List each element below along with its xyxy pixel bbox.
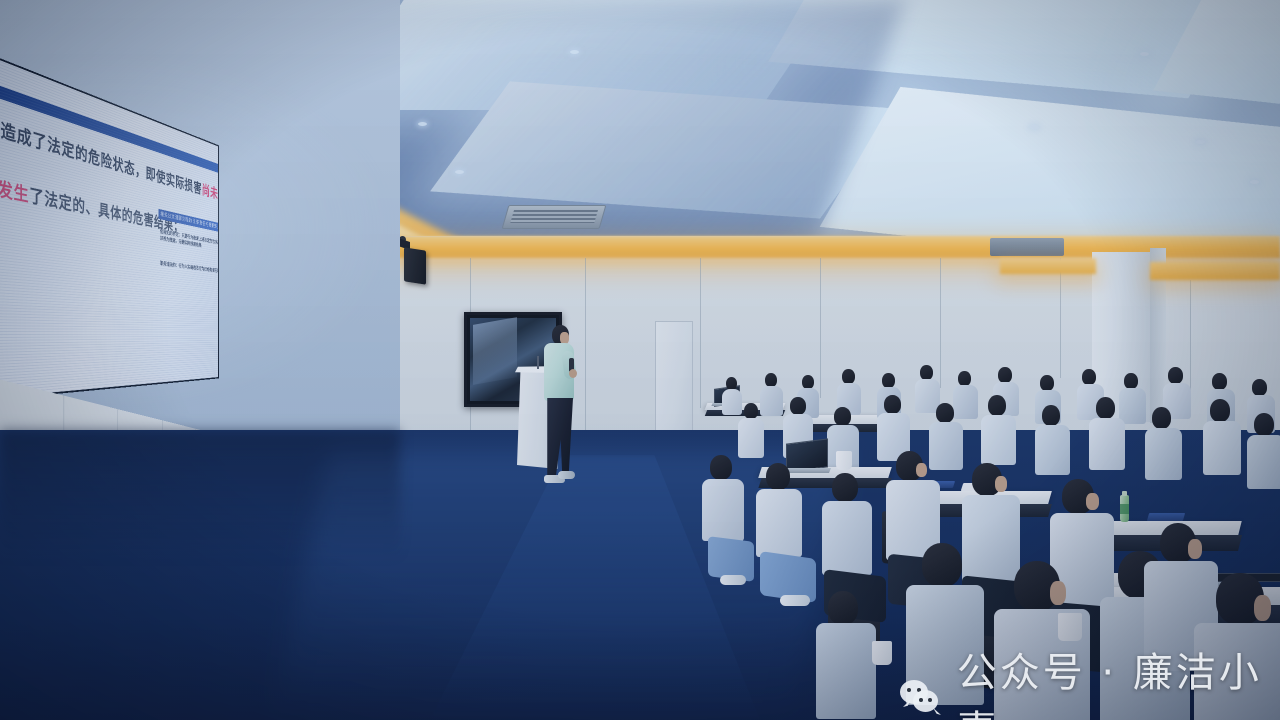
person-head	[834, 407, 851, 426]
person-torso	[816, 623, 876, 719]
person-head	[936, 403, 954, 423]
person-torso	[906, 585, 984, 705]
person-face	[1254, 595, 1271, 621]
right-wall-cove-light	[1150, 262, 1280, 280]
notebook[interactable]	[1147, 513, 1185, 521]
person-head	[1252, 379, 1267, 396]
person-head	[1096, 397, 1115, 419]
person-head	[744, 403, 758, 419]
monitor-glare	[473, 317, 517, 385]
person-torso	[1119, 388, 1146, 424]
ceiling-air-vent	[990, 238, 1064, 256]
person-head	[988, 395, 1006, 416]
wall-speaker	[404, 247, 426, 284]
person-head	[882, 373, 895, 388]
person-face	[916, 463, 927, 477]
downlight-icon	[570, 50, 579, 54]
person-head	[1040, 375, 1054, 391]
downlight-icon	[1140, 52, 1149, 56]
downlight-icon	[455, 170, 464, 174]
presenter-shoe	[558, 471, 575, 479]
person-torso	[756, 489, 802, 557]
person-head	[790, 397, 806, 415]
ceiling-air-vent	[502, 205, 607, 229]
person-head	[922, 543, 962, 587]
person-head	[958, 371, 971, 386]
person-head	[1124, 373, 1138, 389]
downlight-icon	[418, 122, 427, 126]
seated-audience	[700, 355, 1280, 720]
person-torso	[1247, 435, 1280, 489]
person-torso	[822, 501, 872, 575]
floor-shadow	[0, 430, 400, 560]
person-torso	[760, 386, 783, 416]
paper-cup[interactable]	[836, 451, 852, 470]
person-head	[1042, 405, 1060, 426]
person-shoe	[720, 575, 746, 585]
downlight-icon	[1030, 125, 1039, 129]
person-head	[1082, 369, 1096, 385]
person-head	[1168, 367, 1183, 384]
water-bottle[interactable]	[1120, 495, 1129, 522]
person-torso	[1194, 623, 1280, 720]
person-head	[998, 367, 1012, 383]
downlight-icon	[1196, 140, 1205, 144]
person-torso	[702, 479, 744, 541]
person-torso	[1145, 428, 1182, 480]
photo-scene: 内造成了法定的危险状态，即使实际损害尚未发生 须发生了法定的、具体的危害结果； …	[0, 0, 1280, 720]
paper-cup[interactable]	[1058, 613, 1082, 641]
wall-seam	[585, 258, 586, 458]
person-face	[1188, 539, 1202, 559]
person-head	[1210, 399, 1230, 422]
person-torso	[738, 418, 764, 458]
person-torso	[1203, 421, 1241, 475]
person-torso	[929, 422, 963, 470]
person-head	[842, 369, 855, 384]
presenter	[536, 325, 576, 495]
person-torso	[1089, 418, 1125, 470]
presenter-hand	[569, 369, 577, 378]
person-head	[884, 395, 901, 414]
person-torso	[981, 415, 1016, 465]
person-head	[1254, 413, 1274, 436]
person-face	[1050, 581, 1066, 605]
person-shoe	[780, 595, 810, 606]
person-head	[828, 591, 858, 625]
person-head	[832, 473, 858, 502]
person-head	[1152, 407, 1171, 429]
person-torso	[962, 495, 1020, 583]
person-head	[765, 373, 777, 387]
paper-cup[interactable]	[872, 641, 892, 665]
person-head	[710, 455, 732, 480]
person-torso	[953, 385, 978, 419]
right-wall-cove-light	[1000, 258, 1096, 274]
person-torso	[722, 389, 742, 415]
person-head	[766, 463, 790, 490]
person-torso	[1035, 425, 1070, 475]
person-face	[1086, 493, 1099, 510]
downlight-icon	[1250, 180, 1259, 184]
presenter-trousers	[545, 398, 573, 478]
person-head	[920, 365, 933, 380]
person-head	[802, 375, 814, 389]
person-head	[1212, 373, 1227, 390]
person-face	[995, 476, 1007, 492]
